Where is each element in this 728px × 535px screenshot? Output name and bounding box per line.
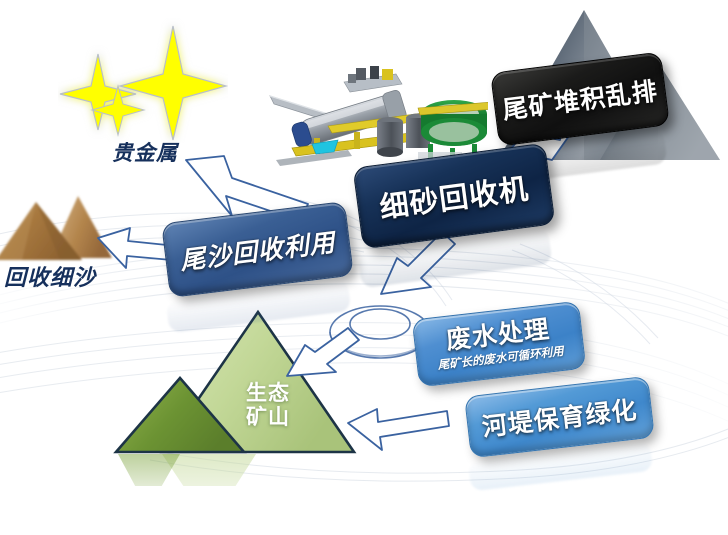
node-tailing-sand-reuse-title: 尾沙回收利用 [178, 222, 337, 277]
node-tailing-pile-title: 尾矿堆积乱排 [500, 71, 659, 126]
node-riverbank-greening-title: 河堤保育绿化 [480, 390, 639, 443]
node-tailing-sand-reuse[interactable]: 尾沙回收利用 [161, 201, 354, 298]
arrow-river-to-eco [348, 409, 449, 450]
eco-mine-label-line2: 矿山 [232, 406, 304, 430]
node-sand-recovery-machine-title: 细砂回收机 [377, 165, 531, 226]
node-riverbank-greening[interactable]: 河堤保育绿化 [464, 376, 655, 459]
node-wastewater-treatment[interactable]: 废水处理 尾矿长的废水可循环利用 [412, 301, 587, 388]
eco-mine-label-line1: 生态 [232, 382, 304, 406]
caption-precious-metals: 贵金属 [112, 137, 178, 167]
sand-pile-image [0, 186, 120, 266]
diagram-canvas: 生态 矿山 [0, 0, 728, 535]
caption-recycled-fine-sand: 回收细沙 [4, 260, 96, 292]
eco-mine-label: 生态 矿山 [232, 382, 304, 429]
sparkle-star-icon [58, 18, 228, 143]
